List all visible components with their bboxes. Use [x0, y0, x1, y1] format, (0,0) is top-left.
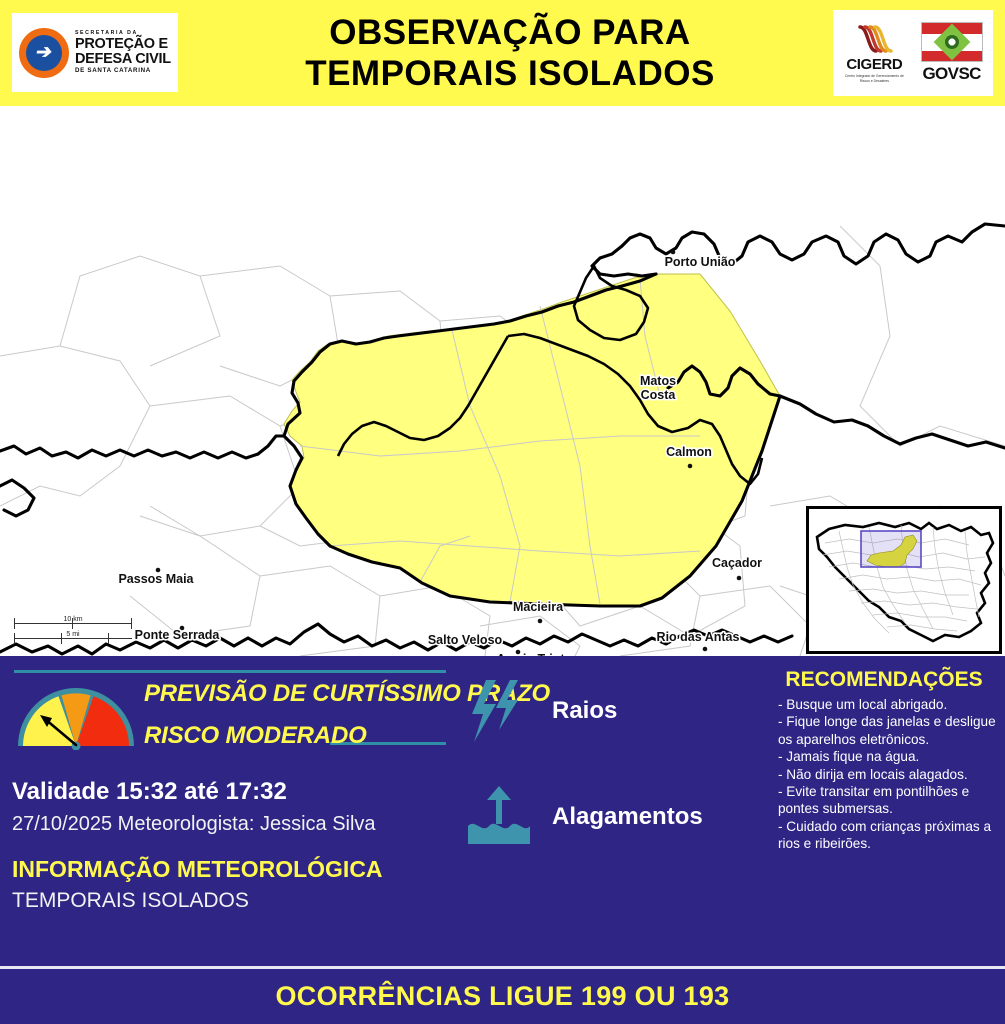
govsc-name: GOVSC [922, 64, 980, 84]
alert-map[interactable]: Porto UniãoMatosCostaCalmonCaçadorPassos… [0, 106, 1005, 656]
inset-locator-map[interactable] [806, 506, 1002, 654]
recommendation-item: - Fique longe das janelas e desligue os … [778, 713, 996, 748]
recommendation-item: - Evite transitar em pontilhões e pontes… [778, 783, 996, 818]
hazard-alagamentos: Alagamentos [466, 786, 703, 848]
meteorological-info-body: TEMPORAIS ISOLADOS [12, 889, 249, 913]
recommendation-item: - Busque um local abrigado. [778, 696, 996, 713]
partner-logos: CIGERD Centro Integrado de Gerenciamento… [833, 10, 993, 96]
hazard-raios-label: Raios [552, 697, 617, 725]
flood-water-icon [466, 786, 532, 848]
defesa-civil-badge-icon: ➔ [19, 28, 69, 78]
city-label: Matos [640, 374, 676, 388]
scalebar-km-label: 10 km [14, 616, 132, 623]
top-divider [14, 670, 446, 673]
city-label: Macieira [513, 600, 564, 614]
validity-period: Validade 15:32 até 17:32 [12, 778, 287, 806]
recommendation-item: - Cuidado com crianças próximas a rios e… [778, 818, 996, 853]
page-title: OBSERVAÇÃO PARA TEMPORAIS ISOLADOS [190, 8, 830, 100]
city-label: Porto União [665, 255, 736, 269]
city-label: Caçador [712, 556, 762, 570]
risk-level-label: RISCO MODERADO [144, 722, 367, 750]
meteorologist-line: 27/10/2025 Meteorologista: Jessica Silva [12, 813, 376, 836]
scalebar-mi-label: 5 mi [14, 631, 132, 638]
hazard-raios: Raios [466, 680, 617, 742]
alert-poster: ➔ SECRETARIA DA PROTEÇÃO E DEFESA CIVIL … [0, 0, 1005, 1024]
city-label: Rio das Antas [657, 630, 740, 644]
logo-santa-catarina-line: DE SANTA CATARINA [75, 68, 171, 74]
city-label: Salto Veloso [428, 633, 503, 647]
govsc-logo: GOVSC [916, 22, 988, 84]
city-label: Passos Maia [118, 572, 194, 586]
city-label: Ponte Serrada [135, 628, 221, 642]
cigerd-subtitle: Centro Integrado de Gerenciamento de Ris… [841, 74, 907, 83]
meteorological-info-title: INFORMAÇÃO METEOROLÓGICA [12, 856, 383, 883]
title-line-2: TEMPORAIS ISOLADOS [305, 54, 715, 95]
recommendations-list: - Busque um local abrigado.- Fique longe… [778, 696, 996, 853]
city-label: Costa [641, 388, 677, 402]
hazard-alagamentos-label: Alagamentos [552, 803, 703, 831]
risk-gauge [14, 678, 138, 750]
cigerd-name: CIGERD [846, 57, 902, 72]
lightning-bolt-icon [466, 680, 532, 742]
logo-defesa-civil-line: DEFESA CIVIL [75, 52, 171, 67]
defesa-civil-glyph-icon: ➔ [34, 43, 54, 62]
recommendations-title: RECOMENDAÇÕES [770, 668, 998, 692]
logo-protecao-line: PROTEÇÃO E [75, 37, 171, 52]
title-line-1: OBSERVAÇÃO PARA [329, 13, 690, 54]
inset-viewport-box [861, 531, 921, 567]
cigerd-wave-icon [854, 22, 894, 55]
defesa-civil-logo: ➔ SECRETARIA DA PROTEÇÃO E DEFESA CIVIL … [12, 13, 178, 92]
info-panel: PREVISÃO DE CURTÍSSIMO PRAZO RISCO MODER… [0, 656, 1005, 966]
map-scalebar: 10 km 5 mi [14, 616, 132, 646]
santa-catarina-flag-icon [921, 22, 983, 62]
recommendation-item: - Jamais fique na água. [778, 748, 996, 765]
city-label: Calmon [666, 445, 712, 459]
emergency-phone-text: OCORRÊNCIAS LIGUE 199 OU 193 [275, 981, 729, 1012]
header-banner: ➔ SECRETARIA DA PROTEÇÃO E DEFESA CIVIL … [0, 0, 1005, 106]
cigerd-logo: CIGERD Centro Integrado de Gerenciamento… [838, 22, 910, 83]
footer-banner: OCORRÊNCIAS LIGUE 199 OU 193 [0, 969, 1005, 1024]
recommendation-item: - Não dirija em locais alagados. [778, 766, 996, 783]
